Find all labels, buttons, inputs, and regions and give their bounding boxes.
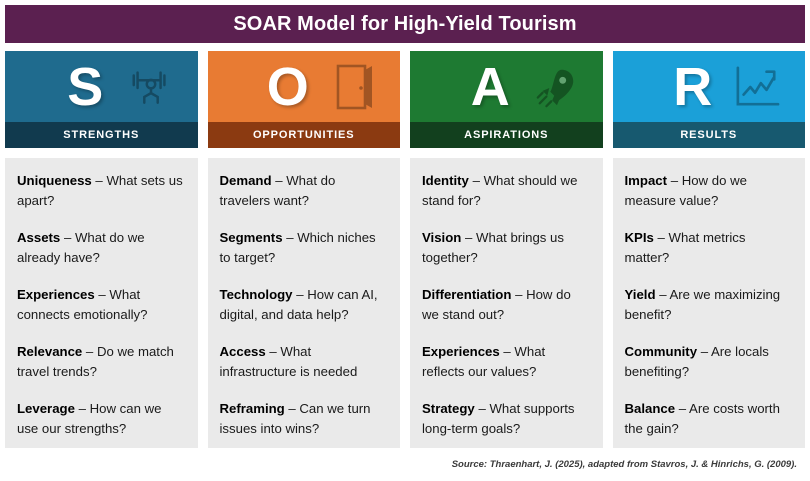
entry-term: Access: [220, 344, 266, 359]
tile-label: RESULTS: [680, 129, 737, 141]
entry-dash: –: [95, 173, 102, 188]
entry-dash: –: [465, 230, 472, 245]
entry-dash: –: [679, 401, 686, 416]
entry-term: Differentiation: [422, 287, 511, 302]
title-banner: SOAR Model for High-Yield Tourism: [5, 5, 805, 43]
entry-term: Vision: [422, 230, 461, 245]
tile-main-results: R: [613, 51, 806, 122]
list-item: Differentiation – How do we stand out?: [422, 285, 591, 324]
tile-opportunities: OOPPORTUNITIES: [208, 51, 401, 148]
list-item: Experiences – What reflects our values?: [422, 342, 591, 381]
panel-results: Impact – How do we measure value?KPIs – …: [613, 158, 806, 448]
content-panels-row: Uniqueness – What sets us apart?Assets –…: [5, 158, 805, 448]
tile-label: STRENGTHS: [63, 129, 139, 141]
weightlifter-icon: [128, 64, 174, 110]
page-title: SOAR Model for High-Yield Tourism: [233, 13, 576, 36]
tile-main-strengths: S: [5, 51, 198, 122]
list-item: Experiences – What connects emotionally?: [17, 285, 186, 324]
tile-letter: R: [673, 60, 712, 114]
entry-dash: –: [659, 287, 666, 302]
tile-letter: O: [267, 60, 309, 114]
rocket-icon: [533, 64, 579, 110]
list-item: Uniqueness – What sets us apart?: [17, 171, 186, 210]
tile-footer-aspirations: ASPIRATIONS: [410, 122, 603, 148]
entry-dash: –: [288, 401, 295, 416]
list-item: Segments – Which niches to target?: [220, 228, 389, 267]
list-item: Yield – Are we maximizing benefit?: [625, 285, 794, 324]
tile-results: RRESULTS: [613, 51, 806, 148]
entry-term: Community: [625, 344, 698, 359]
entry-term: Impact: [625, 173, 668, 188]
list-item: Access – What infrastructure is needed: [220, 342, 389, 381]
entry-dash: –: [658, 230, 665, 245]
list-item: Strategy – What supports long-term goals…: [422, 399, 591, 438]
source-bar: Source: Thraenhart, J. (2025), adapted f…: [5, 452, 805, 476]
entry-term: Assets: [17, 230, 60, 245]
list-item: Identity – What should we stand for?: [422, 171, 591, 210]
entry-dash: –: [286, 230, 293, 245]
list-item: Demand – What do travelers want?: [220, 171, 389, 210]
entry-term: Leverage: [17, 401, 75, 416]
entry-term: Reframing: [220, 401, 285, 416]
panel-strengths: Uniqueness – What sets us apart?Assets –…: [5, 158, 198, 448]
entry-term: Balance: [625, 401, 676, 416]
entry-dash: –: [473, 173, 480, 188]
entry-dash: –: [296, 287, 303, 302]
entry-dash: –: [269, 344, 276, 359]
tile-letter: A: [471, 60, 510, 114]
entry-dash: –: [671, 173, 678, 188]
entry-term: Yield: [625, 287, 656, 302]
entry-dash: –: [98, 287, 105, 302]
source-citation: Source: Thraenhart, J. (2025), adapted f…: [452, 459, 797, 470]
list-item: Leverage – How can we use our strengths?: [17, 399, 186, 438]
list-item: Balance – Are costs worth the gain?: [625, 399, 794, 438]
entry-term: Experiences: [422, 344, 500, 359]
list-item: KPIs – What metrics matter?: [625, 228, 794, 267]
tile-footer-opportunities: OPPORTUNITIES: [208, 122, 401, 148]
list-item: Reframing – Can we turn issues into wins…: [220, 399, 389, 438]
entry-dash: –: [503, 344, 510, 359]
entry-dash: –: [701, 344, 708, 359]
list-item: Technology – How can AI, digital, and da…: [220, 285, 389, 324]
entry-term: Experiences: [17, 287, 95, 302]
tile-footer-results: RESULTS: [613, 122, 806, 148]
list-item: Vision – What brings us together?: [422, 228, 591, 267]
tile-footer-strengths: STRENGTHS: [5, 122, 198, 148]
entry-dash: –: [275, 173, 282, 188]
panel-aspirations: Identity – What should we stand for?Visi…: [410, 158, 603, 448]
entry-term: Uniqueness: [17, 173, 92, 188]
entry-term: Strategy: [422, 401, 475, 416]
list-item: Relevance – Do we match travel trends?: [17, 342, 186, 381]
entry-term: Identity: [422, 173, 469, 188]
list-item: Community – Are locals benefiting?: [625, 342, 794, 381]
entry-term: Demand: [220, 173, 272, 188]
entry-dash: –: [64, 230, 71, 245]
entry-term: Relevance: [17, 344, 82, 359]
tile-aspirations: AASPIRATIONS: [410, 51, 603, 148]
list-item: Assets – What do we already have?: [17, 228, 186, 267]
entry-dash: –: [515, 287, 522, 302]
entry-dash: –: [478, 401, 485, 416]
tile-main-aspirations: A: [410, 51, 603, 122]
letter-tiles-row: SSTRENGTHSOOPPORTUNITIESAASPIRATIONSRRES…: [5, 51, 805, 148]
list-item: Impact – How do we measure value?: [625, 171, 794, 210]
tile-label: ASPIRATIONS: [464, 129, 548, 141]
entry-dash: –: [79, 401, 86, 416]
tile-letter: S: [67, 60, 103, 114]
growth-chart-icon: [733, 65, 781, 109]
entry-term: Technology: [220, 287, 293, 302]
open-door-icon: [334, 63, 376, 111]
tile-main-opportunities: O: [208, 51, 401, 122]
tile-strengths: SSTRENGTHS: [5, 51, 198, 148]
entry-dash: –: [86, 344, 93, 359]
entry-term: KPIs: [625, 230, 654, 245]
panel-opportunities: Demand – What do travelers want?Segments…: [208, 158, 401, 448]
soar-model-infographic: SOAR Model for High-Yield Tourism SSTREN…: [0, 0, 810, 481]
entry-term: Segments: [220, 230, 283, 245]
tile-label: OPPORTUNITIES: [253, 129, 355, 141]
